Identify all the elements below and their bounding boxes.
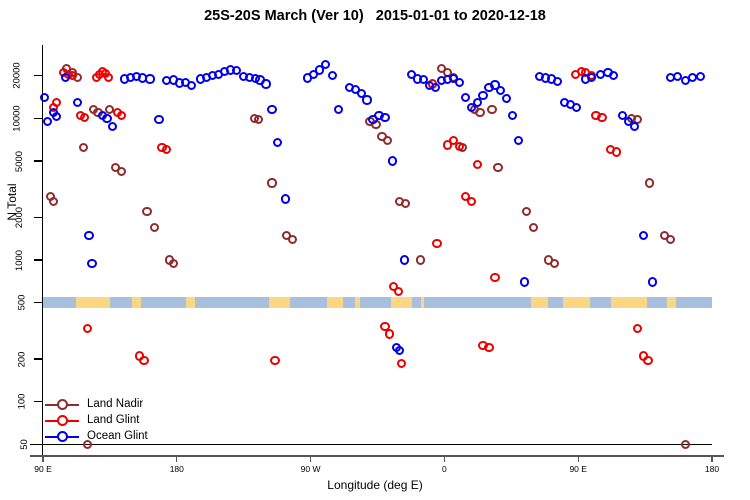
data-point	[117, 167, 126, 176]
x-tick-mark	[444, 455, 445, 462]
data-point	[52, 98, 61, 107]
data-point	[609, 71, 618, 80]
data-point	[395, 346, 404, 355]
data-point	[432, 239, 441, 248]
data-point	[84, 231, 93, 240]
y-tick-label: 100	[0, 380, 30, 424]
data-point	[572, 103, 581, 112]
data-point	[467, 197, 476, 206]
data-point	[150, 223, 159, 232]
data-point	[475, 108, 484, 117]
data-point	[639, 231, 648, 240]
x-tick-label: 180	[705, 464, 719, 474]
y-axis-label: N Total	[5, 142, 19, 262]
land-segment	[327, 297, 343, 308]
data-point	[267, 178, 276, 187]
data-point	[383, 136, 392, 145]
x-tick-label: 180	[170, 464, 184, 474]
legend-marker	[57, 415, 68, 426]
y-tick-mark	[34, 160, 42, 161]
legend-marker	[57, 399, 68, 410]
land-segment	[391, 297, 412, 308]
data-point	[162, 145, 171, 154]
y-tick-label: 500	[0, 281, 30, 325]
data-point	[261, 79, 270, 88]
legend: Land NadirLand GlintOcean Glint	[45, 396, 195, 444]
y-tick-label: 20000	[0, 54, 30, 98]
data-point	[43, 117, 52, 126]
y-tick-mark	[34, 259, 42, 260]
y-tick-mark	[34, 358, 42, 359]
legend-marker	[57, 431, 68, 442]
data-point	[87, 259, 96, 268]
data-point	[394, 287, 403, 296]
data-point	[49, 197, 58, 206]
x-tick-label: 90 E	[569, 464, 587, 474]
data-point	[117, 111, 126, 120]
land-segment	[667, 297, 676, 308]
data-point	[80, 113, 89, 122]
land-segment	[563, 297, 590, 308]
data-point	[142, 207, 151, 216]
legend-label: Ocean Glint	[87, 428, 148, 444]
x-axis-label: Longitude (deg E)	[0, 478, 750, 492]
data-point	[416, 255, 425, 264]
x-tick-label: 90 E	[34, 464, 52, 474]
data-point	[154, 115, 163, 124]
data-point	[643, 356, 652, 365]
data-point	[270, 356, 279, 365]
data-point	[490, 273, 499, 282]
data-point	[553, 77, 562, 86]
land-segment	[531, 297, 549, 308]
data-point	[385, 329, 394, 338]
data-point	[550, 259, 559, 268]
x-tick-mark	[578, 455, 579, 462]
legend-entry[interactable]: Land Nadir	[45, 396, 195, 412]
data-point	[666, 235, 675, 244]
chart-title: 25S-20S March (Ver 10) 2015-01-01 to 202…	[0, 8, 750, 24]
data-point	[648, 277, 657, 286]
data-point	[587, 73, 596, 82]
y-tick-label: 10000	[0, 96, 30, 140]
data-point	[321, 60, 330, 69]
data-point	[108, 122, 117, 131]
data-point	[362, 95, 371, 104]
data-point	[169, 259, 178, 268]
data-point	[61, 73, 70, 82]
y-tick-mark	[34, 217, 42, 218]
data-point	[461, 93, 470, 102]
data-point	[455, 78, 464, 87]
data-point	[630, 122, 639, 131]
data-point	[388, 156, 397, 165]
data-point	[522, 207, 531, 216]
land-segment	[132, 297, 141, 308]
x-tick-mark	[711, 455, 712, 462]
data-point	[328, 71, 337, 80]
data-point	[334, 105, 343, 114]
data-point	[487, 105, 496, 114]
legend-entry[interactable]: Land Glint	[45, 412, 195, 428]
data-point	[281, 194, 290, 203]
legend-entry[interactable]: Ocean Glint	[45, 428, 195, 444]
data-point	[502, 94, 511, 103]
data-point	[473, 160, 482, 169]
data-point	[508, 111, 517, 120]
data-point	[400, 255, 409, 264]
y-tick-mark	[34, 118, 42, 119]
data-point	[633, 324, 642, 333]
plot-area	[43, 45, 712, 455]
land-segment	[611, 297, 647, 308]
data-point	[187, 81, 196, 90]
data-point	[83, 324, 92, 333]
data-point	[79, 143, 88, 152]
data-point	[514, 136, 523, 145]
land-segment	[421, 297, 424, 308]
data-point	[696, 72, 705, 81]
data-point	[254, 115, 263, 124]
land-segment	[355, 297, 359, 308]
data-point	[520, 277, 529, 286]
surface-mask-band	[43, 297, 712, 308]
data-point	[380, 113, 389, 122]
data-point	[401, 199, 410, 208]
legend-label: Land Glint	[87, 412, 139, 428]
data-point	[397, 359, 406, 368]
data-point	[52, 112, 61, 121]
x-tick-label: 0	[442, 464, 447, 474]
chart-root: 25S-20S March (Ver 10) 2015-01-01 to 202…	[0, 0, 750, 500]
y-tick-mark	[34, 302, 42, 303]
data-point	[273, 138, 282, 147]
x-tick-mark	[310, 455, 311, 462]
x-tick-mark	[42, 455, 43, 462]
land-segment	[269, 297, 290, 308]
data-point	[493, 163, 502, 172]
data-point	[484, 343, 493, 352]
data-point	[612, 147, 621, 156]
land-segment	[76, 297, 110, 308]
data-point	[139, 356, 148, 365]
data-point	[681, 440, 690, 449]
x-tick-mark	[176, 455, 177, 462]
data-point	[645, 178, 654, 187]
data-point	[288, 235, 297, 244]
data-point	[597, 113, 606, 122]
y-tick-label: 200	[0, 337, 30, 381]
legend-label: Land Nadir	[87, 396, 143, 412]
baseline-rule	[30, 444, 712, 445]
x-tick-label: 90 W	[301, 464, 321, 474]
data-point	[529, 223, 538, 232]
data-point	[73, 98, 82, 107]
y-tick-mark	[34, 75, 42, 76]
data-point	[104, 73, 113, 82]
data-point	[478, 91, 487, 100]
y-tick-mark	[34, 401, 42, 402]
x-axis-spine	[30, 455, 724, 457]
data-point	[267, 105, 276, 114]
data-point	[145, 74, 154, 83]
data-point	[40, 93, 49, 102]
land-segment	[186, 297, 195, 308]
y-tick-label: 50	[0, 422, 30, 466]
